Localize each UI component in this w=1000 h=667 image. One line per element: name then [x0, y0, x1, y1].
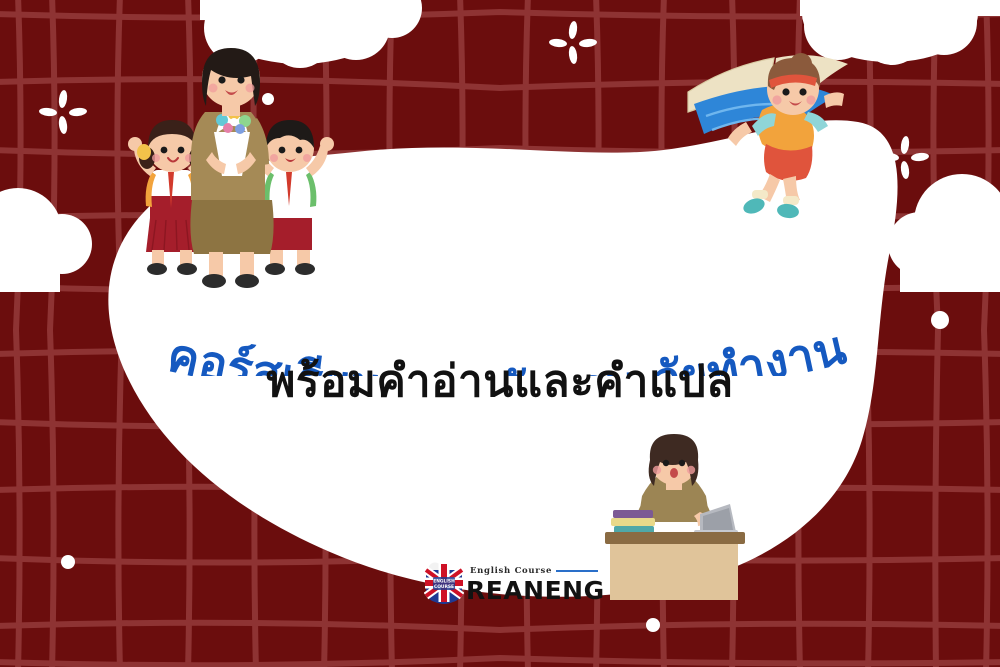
- logo-tagline: English Course: [470, 566, 552, 576]
- brand-logo: ENGLISH COURSE English Course REANENG: [424, 562, 604, 604]
- svg-text:ENGLISH: ENGLISH: [433, 579, 455, 585]
- stack-of-books: [611, 510, 655, 534]
- uk-flag-badge-icon: ENGLISH COURSE: [424, 562, 464, 604]
- logo-rule: [556, 570, 598, 572]
- svg-text:COURSE: COURSE: [434, 584, 454, 590]
- woman-at-desk: [605, 434, 745, 600]
- logo-brand-name: REANENG: [466, 578, 605, 603]
- poster-canvas: คอร์สเรียนภาษาอังกฤษ วัยทำงาน พร้อมคำอ่า…: [0, 0, 1000, 667]
- logo-tagline-row: English Course: [470, 566, 605, 577]
- headline-subtitle: พร้อมคำอ่านและคำแปล: [0, 358, 1000, 406]
